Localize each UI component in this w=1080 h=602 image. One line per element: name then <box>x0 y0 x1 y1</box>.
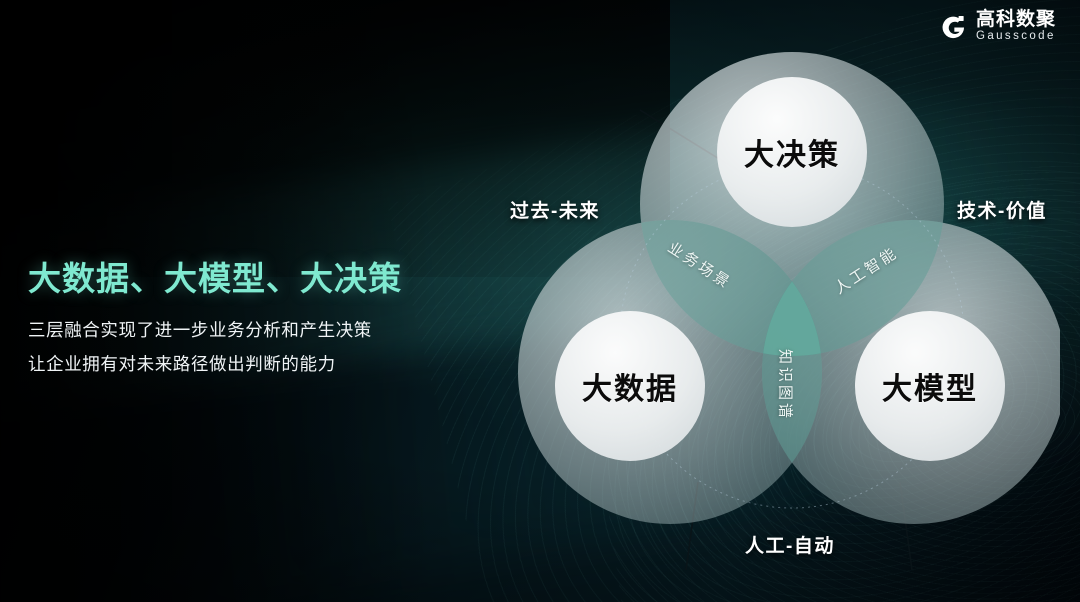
brand-name-en: Gausscode <box>976 31 1056 43</box>
brand-name-cn: 高科数聚 <box>976 10 1056 29</box>
axis-label-manual-automatic: 人工-自动 <box>745 531 835 558</box>
venn-label-bigdata: 大数据 <box>582 364 678 408</box>
venn-label-decision: 大决策 <box>744 130 840 174</box>
venn-diagram <box>500 14 1060 574</box>
venn-label-model: 大模型 <box>882 364 978 408</box>
page-title: 大数据、大模型、大决策 <box>28 258 458 299</box>
gausscode-g-mark-icon <box>940 13 967 40</box>
axis-label-tech-value: 技术-价值 <box>957 196 1047 223</box>
brand-logo-text: 高科数聚 Gausscode <box>976 10 1056 43</box>
brand-logo: 高科数聚 Gausscode <box>940 10 1056 43</box>
slide-canvas: 高科数聚 Gausscode 大数据、大模型、大决策 三层融合实现了进一步业务分… <box>0 0 1080 602</box>
subtitle-line-1: 三层融合实现了进一步业务分析和产生决策 <box>28 313 458 347</box>
axis-label-past-future: 过去-未来 <box>510 196 600 223</box>
subtitle-line-2: 让企业拥有对未来路径做出判断的能力 <box>28 347 458 381</box>
venn-overlap-label-knowledge-graph: 知识图谱 <box>776 349 797 421</box>
headline-block: 大数据、大模型、大决策 三层融合实现了进一步业务分析和产生决策 让企业拥有对未来… <box>28 258 458 382</box>
